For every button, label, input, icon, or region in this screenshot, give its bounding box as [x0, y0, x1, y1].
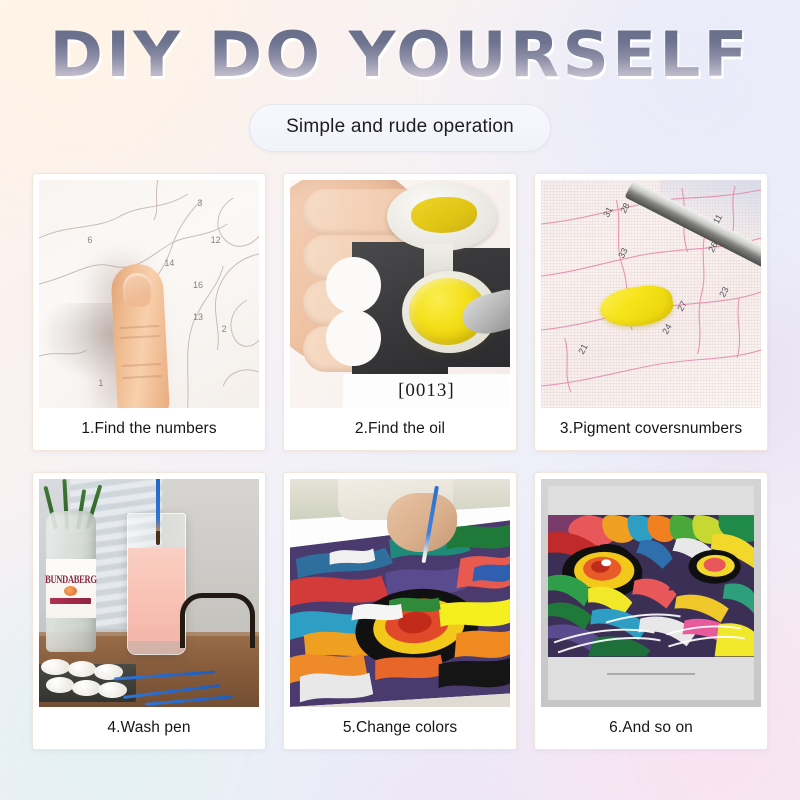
page-header: DIY DO YOURSELF Simple and rude operatio…: [0, 0, 800, 152]
step-photo-6: [541, 479, 761, 707]
step-photo-1: 3 6 12 14 16 15 13 2 1: [39, 180, 259, 408]
canvas-number: 2: [222, 324, 227, 334]
canvas-number: 13: [193, 312, 203, 322]
painting-signature-line: [607, 673, 695, 675]
step-caption-4: 4.Wash pen: [39, 707, 259, 749]
cotton-swab: [72, 680, 101, 696]
fruit-illustration: [64, 586, 77, 596]
subtitle-container: Simple and rude operation: [0, 104, 800, 152]
dipping-brush: [156, 479, 160, 534]
step-photo-5: [290, 479, 510, 707]
bottle-brand-name: BUNDABERG: [45, 572, 97, 586]
knuckle-crease: [120, 335, 160, 339]
canvas-number: 14: [164, 258, 174, 268]
step-caption-3: 3.Pigment coversnumbers: [541, 408, 761, 450]
paint-code-label: [0013]: [398, 380, 455, 402]
step-photo-3: 28 31 33 25 11 26 23 27 24 21: [541, 180, 761, 408]
diy-instructions-page: DIY DO YOURSELF Simple and rude operatio…: [0, 0, 800, 800]
knuckle-crease: [120, 325, 160, 329]
paint-residue-on-lid: [411, 197, 477, 233]
canvas-number: 12: [211, 235, 221, 245]
step-card-1[interactable]: 3 6 12 14 16 15 13 2 1 1.Find the number…: [32, 173, 266, 451]
drink-bottle: BUNDABERG: [46, 511, 97, 652]
fingernail: [123, 272, 153, 307]
canvas-number: 16: [193, 280, 203, 290]
step-caption-6: 6.And so on: [541, 707, 761, 749]
step-card-2[interactable]: [0013] 2.Find the oil: [283, 173, 517, 451]
step-caption-5: 5.Change colors: [290, 707, 510, 749]
step-caption-2: 2.Find the oil: [290, 408, 510, 450]
step-caption-1: 1.Find the numbers: [39, 408, 259, 450]
knuckle-crease: [122, 375, 162, 379]
label-ribbon: [50, 598, 91, 604]
page-title: DIY DO YOURSELF: [49, 24, 750, 86]
subtitle-pill: Simple and rude operation: [249, 104, 551, 152]
painting-hand: [387, 493, 457, 552]
finished-painting: [548, 515, 755, 656]
pointing-finger: [110, 263, 170, 408]
step-card-4[interactable]: BUNDABERG: [32, 472, 266, 750]
steps-grid: 3 6 12 14 16 15 13 2 1 1.Find the number…: [32, 173, 768, 750]
brush-tip: [156, 531, 160, 545]
canvas-number: 3: [197, 198, 202, 208]
knuckle-crease: [122, 363, 162, 367]
pink-liquid: [128, 548, 185, 654]
step-photo-4: BUNDABERG: [39, 479, 259, 707]
cotton-swab: [41, 659, 70, 675]
step-card-6[interactable]: 6.And so on: [534, 472, 768, 750]
bottle-label: BUNDABERG: [46, 559, 97, 618]
chair-back: [180, 593, 255, 648]
cat-painting-svg: [548, 515, 755, 656]
step-card-5[interactable]: 5.Change colors: [283, 472, 517, 750]
glass-base: [128, 641, 185, 654]
step-card-3[interactable]: 28 31 33 25 11 26 23 27 24 21 3.Pigment …: [534, 173, 768, 451]
canvas-number: 6: [87, 235, 92, 245]
paint-code-bar: [0013]: [343, 374, 510, 408]
paint-pot-lid: [387, 182, 497, 250]
step-photo-2: [0013]: [290, 180, 510, 408]
